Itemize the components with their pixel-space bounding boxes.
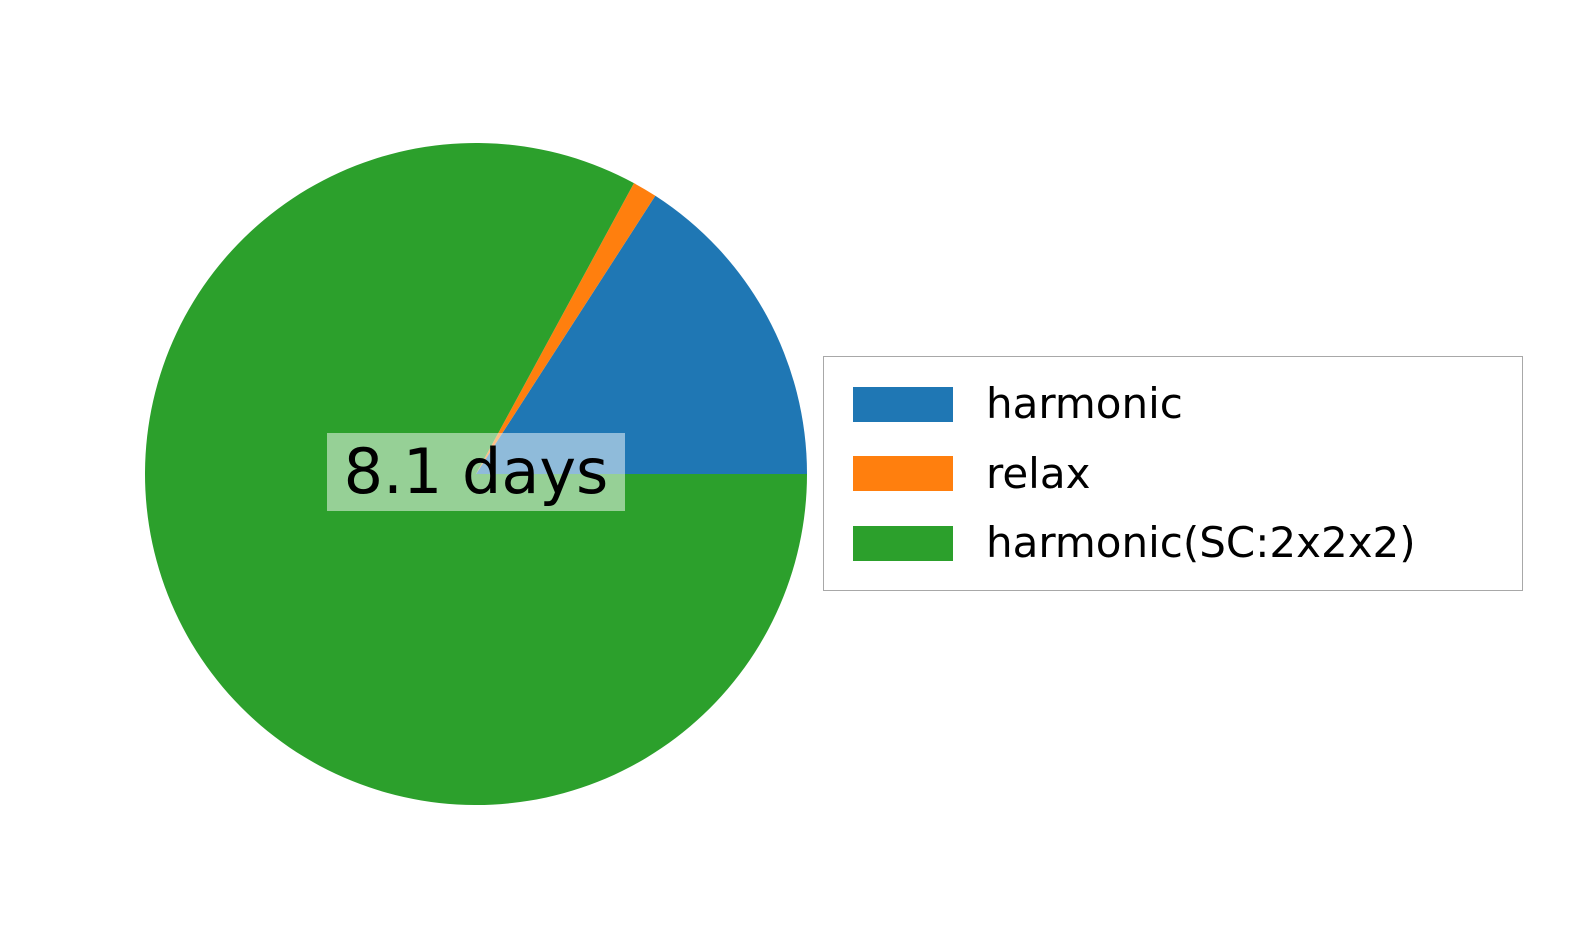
legend-label-harmonic: harmonic xyxy=(986,383,1183,425)
legend: harmonic relax harmonic(SC:2x2x2) xyxy=(823,356,1523,591)
legend-label-relax: relax xyxy=(986,453,1090,495)
legend-item-relax[interactable]: relax xyxy=(824,445,1522,503)
pie-slices-group xyxy=(145,143,807,805)
pie-chart-figure: 8.1 days harmonic relax harmonic(SC:2x2x… xyxy=(0,0,1584,951)
legend-label-harmonic-sc: harmonic(SC:2x2x2) xyxy=(986,522,1416,564)
legend-item-harmonic-sc[interactable]: harmonic(SC:2x2x2) xyxy=(824,514,1522,572)
legend-swatch-relax xyxy=(853,456,953,491)
legend-swatch-harmonic-sc xyxy=(853,526,953,561)
legend-item-harmonic[interactable]: harmonic xyxy=(824,375,1522,433)
legend-swatch-harmonic xyxy=(853,387,953,422)
